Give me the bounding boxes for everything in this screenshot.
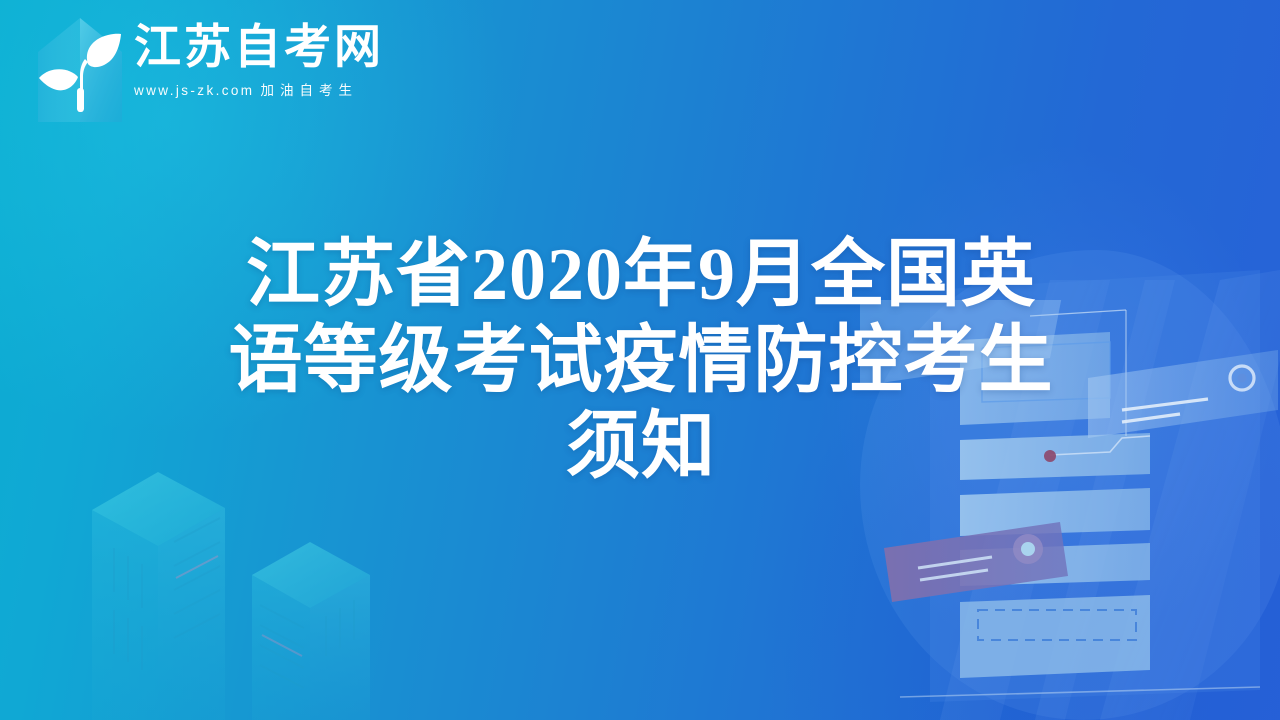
site-name: 江苏自考网 xyxy=(134,22,384,72)
tilted-purple-card xyxy=(884,522,1068,602)
title-line-1: 江苏省2020年9月全国英 xyxy=(196,232,1086,318)
logo-tagline: www.js-zk.com加油自考生 xyxy=(134,79,384,99)
building-tall xyxy=(92,472,225,720)
sprout-icon xyxy=(36,30,124,114)
page-title: 江苏省2020年9月全国英 语等级考试疫情防控考生 须知 xyxy=(196,232,1086,490)
title-line-3: 须知 xyxy=(196,404,1086,490)
building-short xyxy=(252,542,370,720)
tagline-slogan: 加油自考生 xyxy=(260,83,358,98)
logo-text: 江苏自考网 www.js-zk.com加油自考生 xyxy=(134,18,384,99)
promo-banner: 江苏自考网 www.js-zk.com加油自考生 xyxy=(0,0,1280,720)
logo-mark xyxy=(30,18,126,122)
tilted-info-card xyxy=(1088,350,1278,438)
site-logo[interactable]: 江苏自考网 www.js-zk.com加油自考生 xyxy=(30,18,384,122)
tagline-url: www.js-zk.com xyxy=(134,83,254,98)
title-line-2: 语等级考试疫情防控考生 xyxy=(196,318,1086,404)
